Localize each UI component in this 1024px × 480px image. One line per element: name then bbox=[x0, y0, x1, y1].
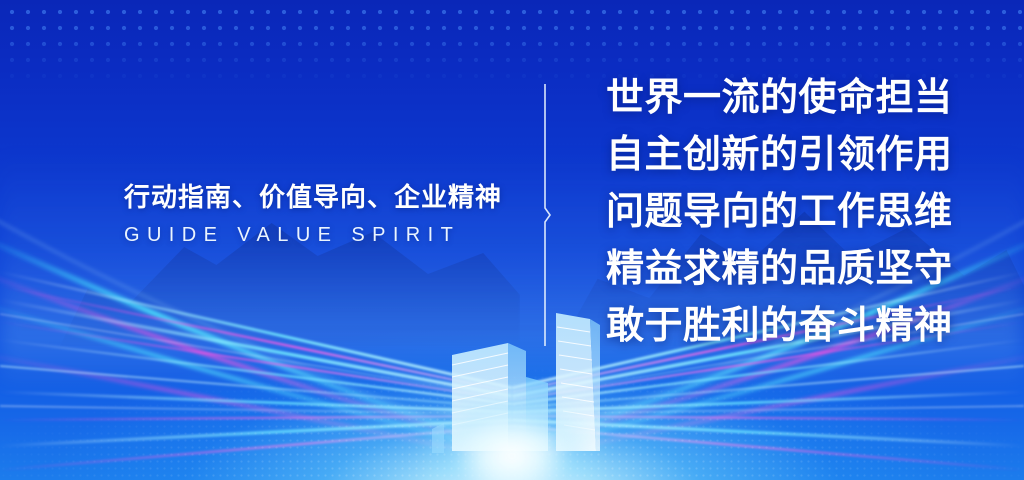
culture-banner: 行动指南、价值导向、企业精神 GUIDE VALUE SPIRIT 世界一流的使… bbox=[0, 0, 1024, 480]
right-line-4: 精益求精的品质坚守 bbox=[606, 241, 1006, 298]
right-line-5: 敢于胜利的奋斗精神 bbox=[606, 298, 1006, 355]
right-line-2: 自主创新的引领作用 bbox=[606, 127, 1006, 184]
left-headline-en: GUIDE VALUE SPIRIT bbox=[124, 222, 524, 248]
right-line-3: 问题导向的工作思维 bbox=[606, 184, 1006, 241]
right-text-block: 世界一流的使命担当 自主创新的引领作用 问题导向的工作思维 精益求精的品质坚守 … bbox=[606, 70, 1006, 355]
left-text-block: 行动指南、价值导向、企业精神 GUIDE VALUE SPIRIT bbox=[124, 180, 524, 248]
left-headline-cn: 行动指南、价值导向、企业精神 bbox=[124, 180, 524, 214]
chevron-right-icon bbox=[536, 84, 556, 346]
right-line-1: 世界一流的使命担当 bbox=[606, 70, 1006, 127]
center-core-glow bbox=[412, 372, 612, 480]
